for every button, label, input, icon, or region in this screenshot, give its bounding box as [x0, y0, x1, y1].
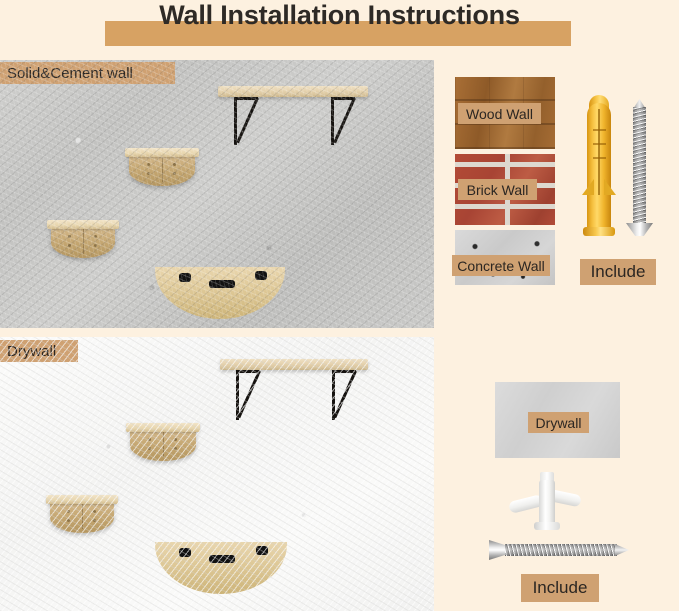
step-front-lip [125, 148, 199, 157]
step-mount-screw [174, 438, 177, 441]
shelf-bracket-right-diagonal [333, 370, 356, 418]
instruction-poster: Wall Installation Instructions [0, 0, 679, 611]
label-brick-wall: Brick Wall [458, 179, 537, 200]
anchor-notch [593, 129, 606, 131]
anchor-notch [593, 157, 606, 159]
shelf-bracket-left-diagonal [237, 370, 260, 418]
step-mount-screw [93, 510, 96, 513]
step-mount-screw [147, 172, 150, 175]
shelf-bracket-right-top [332, 370, 356, 373]
bridge-mount-block-left [179, 273, 191, 282]
label-include-top: Include [580, 259, 656, 285]
anchor-flange [534, 522, 560, 530]
step-front-lip [47, 220, 119, 229]
step-mount-screw [68, 244, 71, 247]
bridge-mount-block-right [255, 271, 267, 280]
screw-countersunk-head [626, 223, 653, 236]
step-body [130, 430, 196, 461]
bridge-mount-block-left [179, 548, 191, 557]
chrome-screw-horizontal-icon [489, 540, 631, 560]
label-concrete-wall: Concrete Wall [452, 255, 550, 276]
step-mount-screw [93, 519, 96, 522]
anchor-notch [593, 143, 606, 145]
step-seam [162, 157, 163, 182]
step-body [50, 502, 114, 533]
step-seam [163, 432, 164, 457]
shelf-board [218, 86, 368, 97]
curved-cat-bridge-cement [155, 267, 285, 319]
step-mount-screw [68, 235, 71, 238]
step-mount-screw [174, 447, 177, 450]
step-mount-screw [147, 163, 150, 166]
step-body [51, 227, 115, 258]
step-mount-screw [173, 163, 176, 166]
bridge-mount-block-center [209, 555, 235, 563]
half-round-step-upper-cement [125, 148, 199, 188]
shelf-bracket-left-diagonal [236, 97, 259, 143]
wall-shelf-drywall [220, 359, 368, 423]
anchor-body [539, 480, 555, 526]
step-mount-screw [67, 510, 70, 513]
half-round-step-lower-drywall [46, 495, 118, 535]
shelf-bracket-right [331, 97, 334, 145]
step-mount-screw [94, 235, 97, 238]
bridge-mount-block-right [256, 546, 268, 555]
step-mount-screw [148, 447, 151, 450]
yellow-expansion-anchor-icon [581, 95, 617, 240]
screw-tip [615, 544, 629, 556]
step-mount-screw [67, 519, 70, 522]
photo-solid-cement-wall: Solid&Cement wall [0, 60, 434, 328]
shelf-board [220, 359, 368, 370]
step-seam [83, 229, 84, 254]
shelf-bracket-left [234, 97, 237, 145]
page-title: Wall Installation Instructions [0, 0, 679, 31]
chrome-screw-vertical-icon [626, 95, 653, 240]
photo-drywall-wall: Drywall [0, 337, 434, 611]
label-solid-cement-wall: Solid&Cement wall [0, 62, 175, 84]
shelf-bracket-left-top [236, 370, 260, 373]
bridge-body [155, 542, 287, 594]
wall-shelf-cement [218, 86, 368, 150]
anchor-expansion-slot [598, 109, 600, 195]
screw-threaded-shank [633, 107, 646, 227]
shelf-bracket-left [236, 370, 239, 420]
step-body [129, 155, 195, 186]
curved-cat-bridge-drywall [155, 542, 287, 594]
label-include-bottom: Include [521, 574, 599, 602]
label-drywall-wall: Drywall [0, 340, 78, 362]
label-drywall-swatch: Drywall [528, 412, 589, 433]
half-round-step-upper-drywall [126, 423, 200, 463]
anchor-flange [583, 227, 615, 236]
white-drywall-anchor-icon [517, 470, 577, 532]
shelf-bracket-left-top [234, 97, 258, 100]
bridge-mount-block-center [209, 280, 235, 288]
half-round-step-lower-cement [47, 220, 119, 260]
step-front-lip [46, 495, 118, 504]
screw-threaded-shank [505, 544, 617, 556]
step-seam [82, 504, 83, 529]
step-mount-screw [173, 172, 176, 175]
shelf-bracket-right-diagonal [333, 97, 356, 143]
label-wood-wall: Wood Wall [458, 103, 541, 124]
shelf-bracket-right-top [331, 97, 355, 100]
shelf-bracket-right [332, 370, 335, 420]
step-mount-screw [94, 244, 97, 247]
step-mount-screw [148, 438, 151, 441]
step-front-lip [126, 423, 200, 432]
bridge-body [155, 267, 285, 319]
